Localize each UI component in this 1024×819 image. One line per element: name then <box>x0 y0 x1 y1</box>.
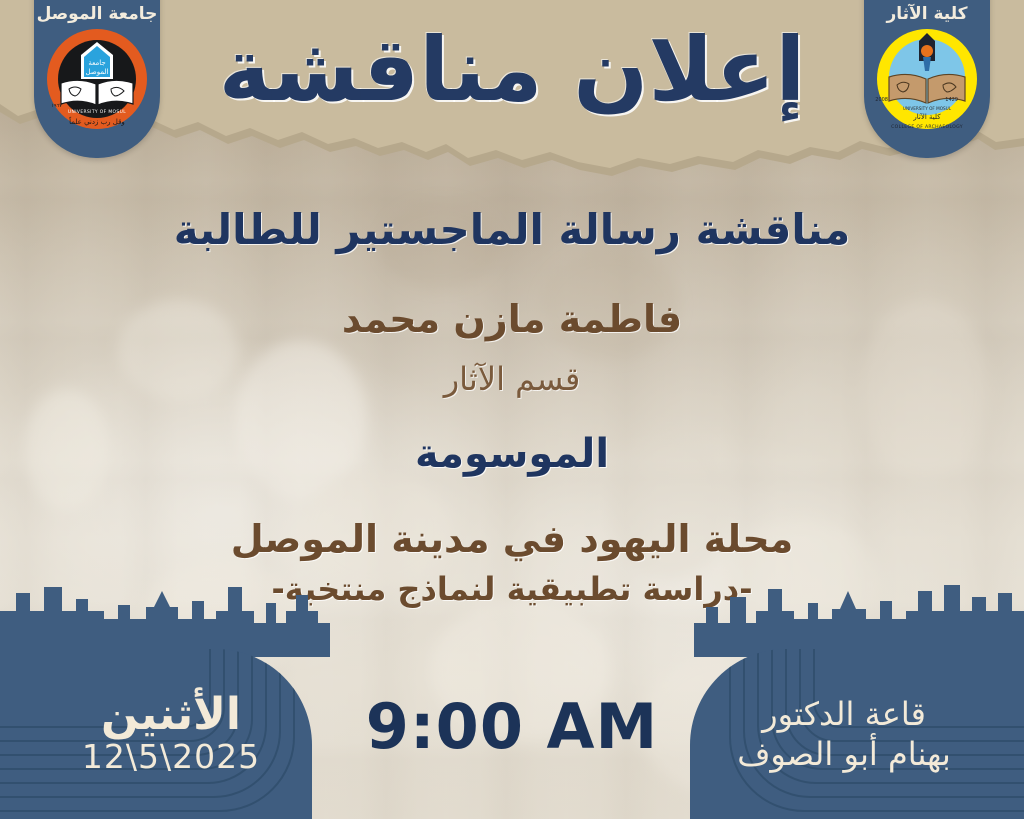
university-of-mosul-emblem: جامعة الموصل UNIVERSITY OF MOSUL وقل رب … <box>45 27 149 131</box>
department-name: قسم الآثار <box>0 362 1024 398</box>
college-logo-caption: كلية الآثار <box>886 4 967 24</box>
thesis-defense-announcement-poster: إعلان مناقشة جامعة الموصل جامعة الموصل U… <box>0 0 1024 819</box>
svg-text:كلية الآثار: كلية الآثار <box>912 112 941 121</box>
defense-date: 12\5\2025 <box>82 738 260 776</box>
svg-text:UNIVERSITY OF MOSUL: UNIVERSITY OF MOSUL <box>903 106 952 111</box>
svg-text:الموصل: الموصل <box>86 68 109 76</box>
venue-badge-content: قاعة الدكتور بهنام أبو الصوف <box>737 694 951 774</box>
university-logo-shield: جامعة الموصل جامعة الموصل UNIVERSITY OF … <box>34 0 160 158</box>
university-logo-caption: جامعة الموصل <box>37 4 158 24</box>
svg-text:١٩٦٧: ١٩٦٧ <box>51 103 62 109</box>
svg-text:2008: 2008 <box>875 97 888 103</box>
college-logo-shield: كلية الآثار UNIVERSITY OF MOSUL كلية الآ… <box>864 0 990 158</box>
svg-text:جامعة: جامعة <box>88 59 105 67</box>
announcement-subtitle: مناقشة رسالة الماجستير للطالبة <box>0 206 1024 253</box>
tagged-label: الموسومة <box>0 432 1024 477</box>
svg-text:١٣٨٧: ١٣٨٧ <box>113 103 124 109</box>
defense-day: الأثنين <box>82 692 260 739</box>
svg-text:COLLEGE OF ARCHAEOLOGY: COLLEGE OF ARCHAEOLOGY <box>891 124 963 130</box>
date-badge-content: الأثنين 12\5\2025 <box>82 692 260 777</box>
svg-text:UNIVERSITY OF MOSUL: UNIVERSITY OF MOSUL <box>68 109 126 115</box>
venue-line-1: قاعة الدكتور <box>737 694 951 734</box>
svg-text:وقل رب زدني علماً: وقل رب زدني علماً <box>68 116 124 126</box>
skyline-silhouette-right <box>694 567 1024 657</box>
college-of-archaeology-emblem: UNIVERSITY OF MOSUL كلية الآثار COLLEGE … <box>875 27 979 131</box>
svg-text:1429: 1429 <box>945 97 958 103</box>
skyline-silhouette-left <box>0 567 330 657</box>
thesis-title-line-1: محلة اليهود في مدينة الموصل <box>0 518 1024 561</box>
venue-line-2: بهنام أبو الصوف <box>737 734 951 774</box>
student-name: فاطمة مازن محمد <box>0 298 1024 341</box>
page-title: إعلان مناقشة <box>219 26 806 114</box>
